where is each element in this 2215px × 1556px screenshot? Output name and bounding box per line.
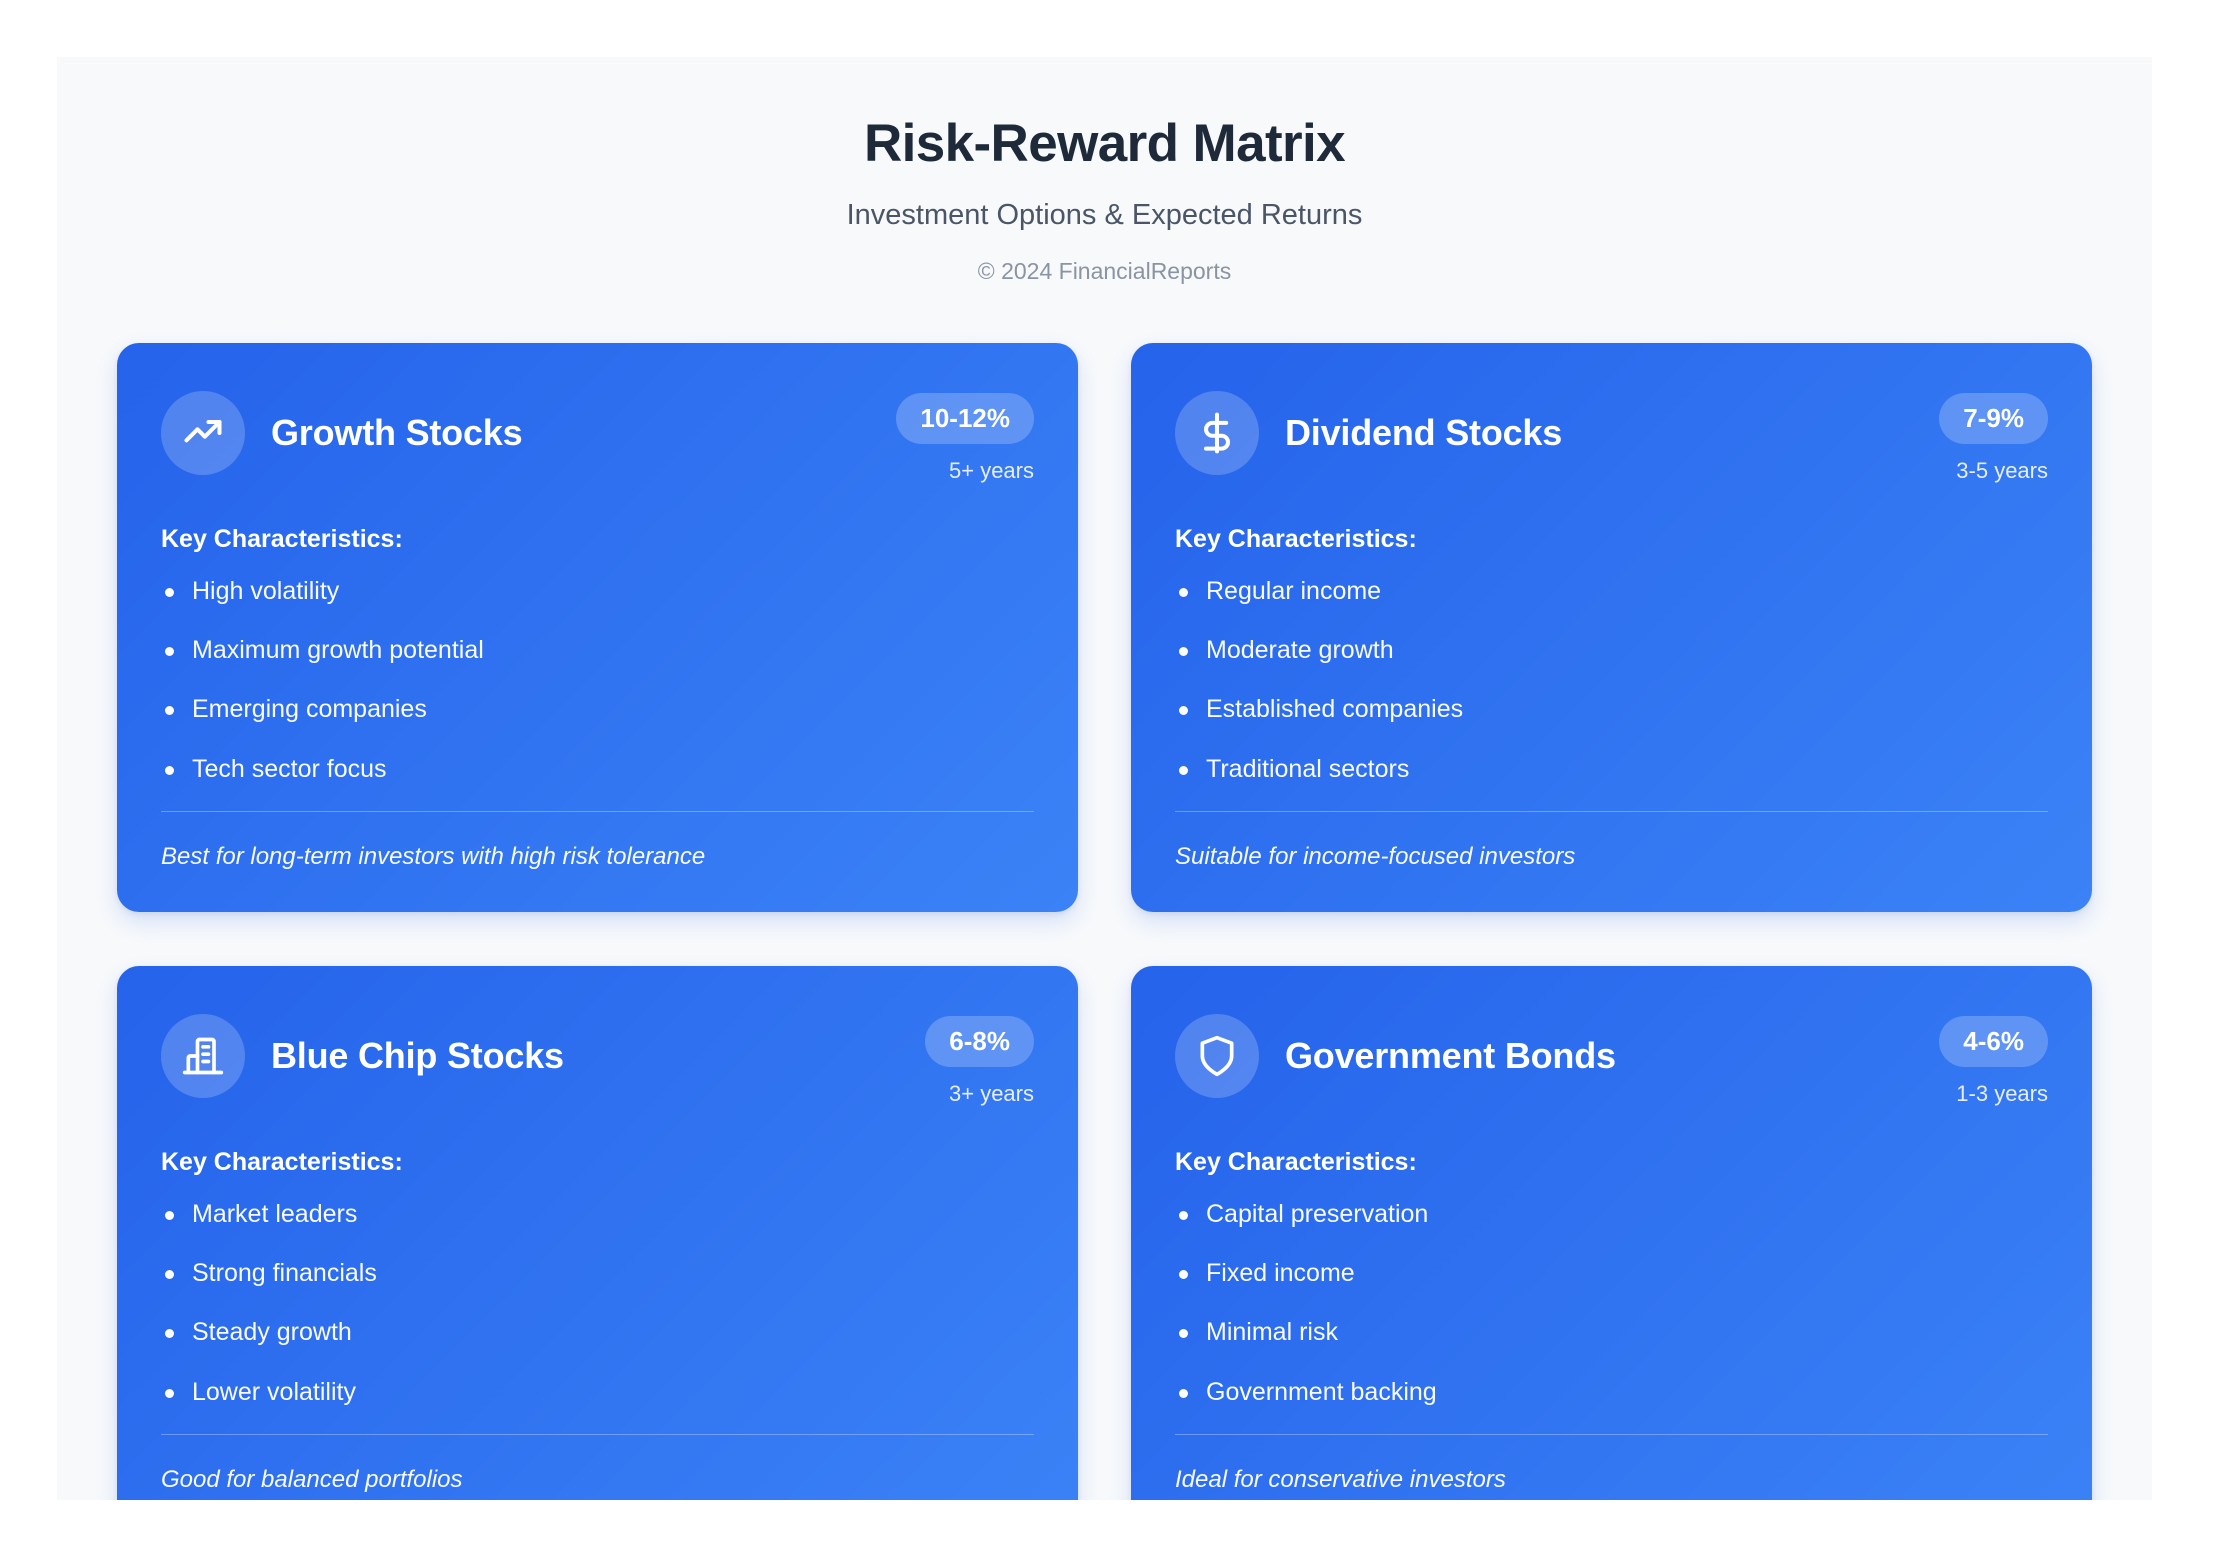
list-item: Established companies: [1175, 694, 2048, 725]
investment-card-dividend-stocks[interactable]: Dividend Stocks 7-9% 3-5 years Key Chara…: [1131, 343, 2092, 912]
card-title: Government Bonds: [1285, 1035, 1616, 1076]
card-divider: [1175, 1434, 2048, 1435]
card-divider: [161, 811, 1034, 812]
list-item: Market leaders: [161, 1199, 1034, 1230]
card-header: Growth Stocks 10-12% 5+ years: [161, 387, 1034, 484]
list-item: Minimal risk: [1175, 1317, 2048, 1348]
page-header: Risk-Reward Matrix Investment Options & …: [57, 57, 2152, 286]
list-item: High volatility: [161, 576, 1034, 607]
trending-up-icon: [161, 391, 245, 475]
card-title: Blue Chip Stocks: [271, 1035, 564, 1076]
list-item: Tech sector focus: [161, 754, 1034, 785]
card-divider: [1175, 811, 2048, 812]
return-range-badge: 10-12%: [896, 393, 1034, 444]
card-spacer: [1175, 1408, 2048, 1434]
card-header-left: Dividend Stocks: [1175, 387, 1562, 475]
card-header-right: 4-6% 1-3 years: [1939, 1010, 2048, 1107]
characteristics-list: Regular income Moderate growth Establish…: [1175, 576, 2048, 785]
characteristics-label: Key Characteristics:: [161, 524, 1034, 554]
card-header: Government Bonds 4-6% 1-3 years: [1175, 1010, 2048, 1107]
list-item: Fixed income: [1175, 1258, 2048, 1289]
page-subtitle: Investment Options & Expected Returns: [57, 198, 2152, 233]
characteristics-label: Key Characteristics:: [1175, 524, 2048, 554]
list-item: Traditional sectors: [1175, 754, 2048, 785]
card-header-left: Government Bonds: [1175, 1010, 1616, 1098]
card-header-right: 7-9% 3-5 years: [1939, 387, 2048, 484]
card-title: Dividend Stocks: [1285, 412, 1562, 453]
card-header: Dividend Stocks 7-9% 3-5 years: [1175, 387, 2048, 484]
investment-card-government-bonds[interactable]: Government Bonds 4-6% 1-3 years Key Char…: [1131, 966, 2092, 1500]
investment-card-blue-chip-stocks[interactable]: Blue Chip Stocks 6-8% 3+ years Key Chara…: [117, 966, 1078, 1500]
list-item: Strong financials: [161, 1258, 1034, 1289]
list-item: Regular income: [1175, 576, 2048, 607]
list-item: Government backing: [1175, 1377, 2048, 1408]
characteristics-list: Capital preservation Fixed income Minima…: [1175, 1199, 2048, 1408]
time-horizon-label: 3-5 years: [1939, 458, 2048, 484]
dollar-sign-icon: [1175, 391, 1259, 475]
card-header-right: 10-12% 5+ years: [896, 387, 1034, 484]
card-note: Suitable for income-focused investors: [1175, 842, 2048, 872]
list-item: Steady growth: [161, 1317, 1034, 1348]
list-item: Maximum growth potential: [161, 635, 1034, 666]
list-item: Moderate growth: [1175, 635, 2048, 666]
page-container: Risk-Reward Matrix Investment Options & …: [57, 57, 2152, 1500]
time-horizon-label: 1-3 years: [1939, 1081, 2048, 1107]
card-header-right: 6-8% 3+ years: [925, 1010, 1034, 1107]
card-header-left: Growth Stocks: [161, 387, 522, 475]
shield-icon: [1175, 1014, 1259, 1098]
return-range-badge: 7-9%: [1939, 393, 2048, 444]
return-range-badge: 4-6%: [1939, 1016, 2048, 1067]
return-range-badge: 6-8%: [925, 1016, 1034, 1067]
card-spacer: [161, 1408, 1034, 1434]
card-note: Ideal for conservative investors: [1175, 1465, 2048, 1495]
characteristics-label: Key Characteristics:: [1175, 1147, 2048, 1177]
investment-card-grid: Growth Stocks 10-12% 5+ years Key Charac…: [117, 343, 2092, 1500]
list-item: Capital preservation: [1175, 1199, 2048, 1230]
building-icon: [161, 1014, 245, 1098]
card-note: Good for balanced portfolios: [161, 1465, 1034, 1495]
page-copyright: © 2024 FinancialReports: [57, 258, 2152, 286]
time-horizon-label: 3+ years: [925, 1081, 1034, 1107]
card-header: Blue Chip Stocks 6-8% 3+ years: [161, 1010, 1034, 1107]
characteristics-label: Key Characteristics:: [161, 1147, 1034, 1177]
list-item: Emerging companies: [161, 694, 1034, 725]
time-horizon-label: 5+ years: [896, 458, 1034, 484]
characteristics-list: Market leaders Strong financials Steady …: [161, 1199, 1034, 1408]
investment-card-growth-stocks[interactable]: Growth Stocks 10-12% 5+ years Key Charac…: [117, 343, 1078, 912]
card-header-left: Blue Chip Stocks: [161, 1010, 564, 1098]
characteristics-list: High volatility Maximum growth potential…: [161, 576, 1034, 785]
card-title: Growth Stocks: [271, 412, 522, 453]
list-item: Lower volatility: [161, 1377, 1034, 1408]
page-title: Risk-Reward Matrix: [57, 113, 2152, 176]
card-spacer: [1175, 785, 2048, 811]
card-note: Best for long-term investors with high r…: [161, 842, 1034, 872]
card-divider: [161, 1434, 1034, 1435]
card-spacer: [161, 785, 1034, 811]
